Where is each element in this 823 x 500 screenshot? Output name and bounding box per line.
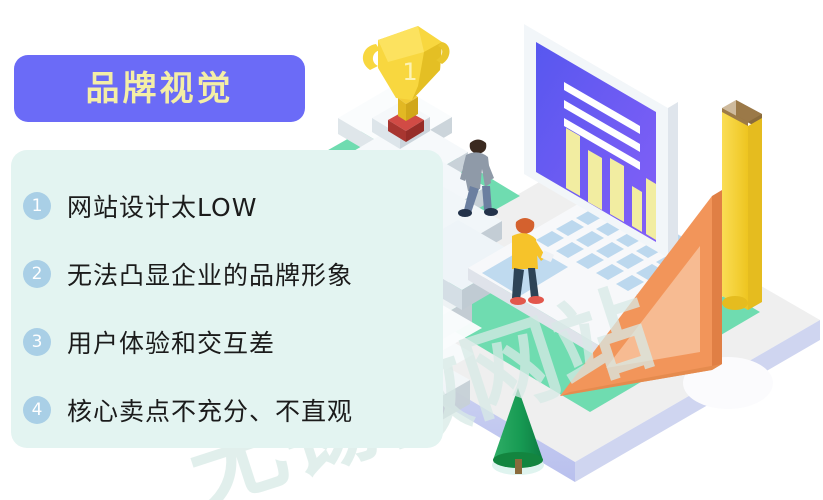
list-item-number: 4	[23, 396, 51, 424]
list-item-number: 3	[23, 328, 51, 356]
list-item-number: 1	[23, 192, 51, 220]
brand-title-label: 品牌视觉	[86, 72, 234, 106]
trophy-rank-label: 1	[402, 58, 417, 86]
list-item-label: 用户体验和交互差	[67, 324, 275, 360]
list-item: 3 用户体验和交互差	[23, 322, 275, 362]
list-item-label: 无法凸显企业的品牌形象	[67, 256, 353, 292]
list-item: 2 无法凸显企业的品牌形象	[23, 254, 353, 294]
list-item-label: 网站设计太LOW	[67, 188, 257, 224]
poster-canvas: 1	[0, 0, 823, 500]
list-item-label: 核心卖点不充分、不直观	[67, 392, 353, 428]
list-item: 4 核心卖点不充分、不直观	[23, 390, 353, 430]
pain-points-panel: 1 网站设计太LOW 2 无法凸显企业的品牌形象 3 用户体验和交互差 4 核心…	[11, 150, 443, 448]
brand-title-badge: 品牌视觉	[14, 55, 305, 122]
list-item-number: 2	[23, 260, 51, 288]
pencil	[722, 100, 762, 310]
list-item: 1 网站设计太LOW	[23, 186, 257, 226]
